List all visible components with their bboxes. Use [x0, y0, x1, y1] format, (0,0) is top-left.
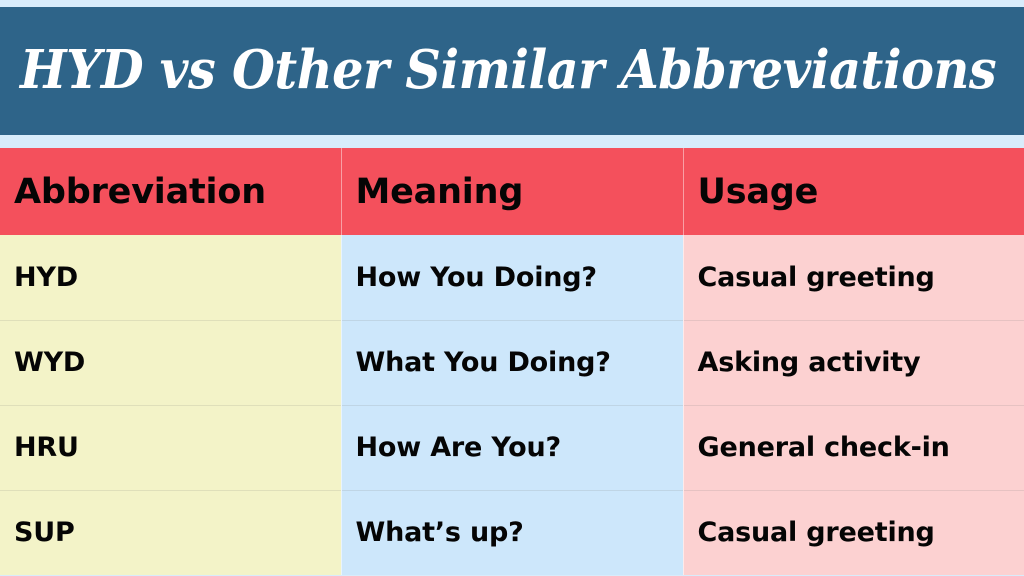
cell-abbreviation: SUP [0, 490, 341, 575]
cell-abbreviation: WYD [0, 320, 341, 405]
table-row: HRU How Are You? General check-in [0, 405, 1024, 490]
table-row: HYD How You Doing? Casual greeting [0, 235, 1024, 320]
abbreviations-table: Abbreviation Meaning Usage HYD How You D… [0, 148, 1024, 575]
column-header-usage: Usage [683, 148, 1024, 235]
table-row: WYD What You Doing? Asking activity [0, 320, 1024, 405]
cell-meaning: What’s up? [341, 490, 683, 575]
page-title: HYD vs Other Similar Abbreviations [20, 43, 996, 99]
cell-meaning: How You Doing? [341, 235, 683, 320]
cell-abbreviation: HRU [0, 405, 341, 490]
table-header-row: Abbreviation Meaning Usage [0, 148, 1024, 235]
cell-usage: Casual greeting [683, 490, 1024, 575]
abbreviations-table-container: Abbreviation Meaning Usage HYD How You D… [0, 148, 1024, 576]
column-header-abbreviation: Abbreviation [0, 148, 341, 235]
cell-meaning: What You Doing? [341, 320, 683, 405]
infographic-root: HYD vs Other Similar Abbreviations Abbre… [0, 0, 1024, 576]
cell-usage: Casual greeting [683, 235, 1024, 320]
cell-abbreviation: HYD [0, 235, 341, 320]
table-row: SUP What’s up? Casual greeting [0, 490, 1024, 575]
cell-meaning: How Are You? [341, 405, 683, 490]
column-header-meaning: Meaning [341, 148, 683, 235]
cell-usage: General check-in [683, 405, 1024, 490]
cell-usage: Asking activity [683, 320, 1024, 405]
title-banner: HYD vs Other Similar Abbreviations [0, 7, 1024, 135]
